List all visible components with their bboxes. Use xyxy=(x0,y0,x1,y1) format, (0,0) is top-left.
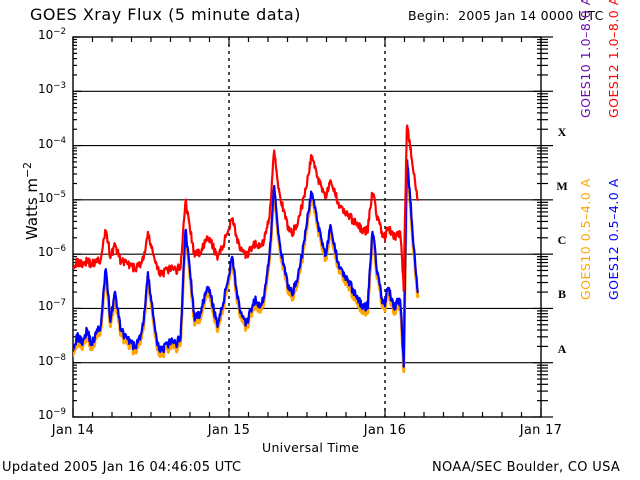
y-tick-label: 10−9 xyxy=(20,408,66,422)
flare-class-b: B xyxy=(555,287,569,302)
flare-class-c: C xyxy=(555,233,569,248)
x-tick-label: Jan 17 xyxy=(501,423,581,438)
flare-class-m: M xyxy=(555,179,569,194)
x-tick-label: Jan 14 xyxy=(33,423,113,438)
xray-flux-plot xyxy=(0,0,640,480)
legend-label-goes12-short: GOES12 0.5–4.0 A xyxy=(606,178,621,300)
y-tick-label: 10−8 xyxy=(20,354,66,368)
x-tick-label: Jan 16 xyxy=(345,423,425,438)
y-tick-label: 10−4 xyxy=(20,137,66,151)
flare-class-a: A xyxy=(555,342,569,357)
legend-label-goes12-long: GOES12 1.0–8.0 A xyxy=(606,0,621,118)
y-tick-label: 10−3 xyxy=(20,82,66,96)
y-tick-label: 10−2 xyxy=(20,28,66,42)
legend-label-goes10-long: GOES10 1.0–8.0 A xyxy=(578,0,593,118)
y-tick-label: 10−6 xyxy=(20,245,66,259)
series-goes10-0-5-4-0-a xyxy=(73,165,418,372)
series-goes12-1-0-8-0-a xyxy=(73,126,418,291)
x-tick-label: Jan 15 xyxy=(189,423,269,438)
flare-class-x: X xyxy=(555,125,569,140)
y-tick-label: 10−7 xyxy=(20,299,66,313)
y-tick-label: 10−5 xyxy=(20,191,66,205)
chart-page: GOES Xray Flux (5 minute data) Begin: 20… xyxy=(0,0,640,480)
legend-label-goes10-short: GOES10 0.5–4.0 A xyxy=(578,178,593,300)
